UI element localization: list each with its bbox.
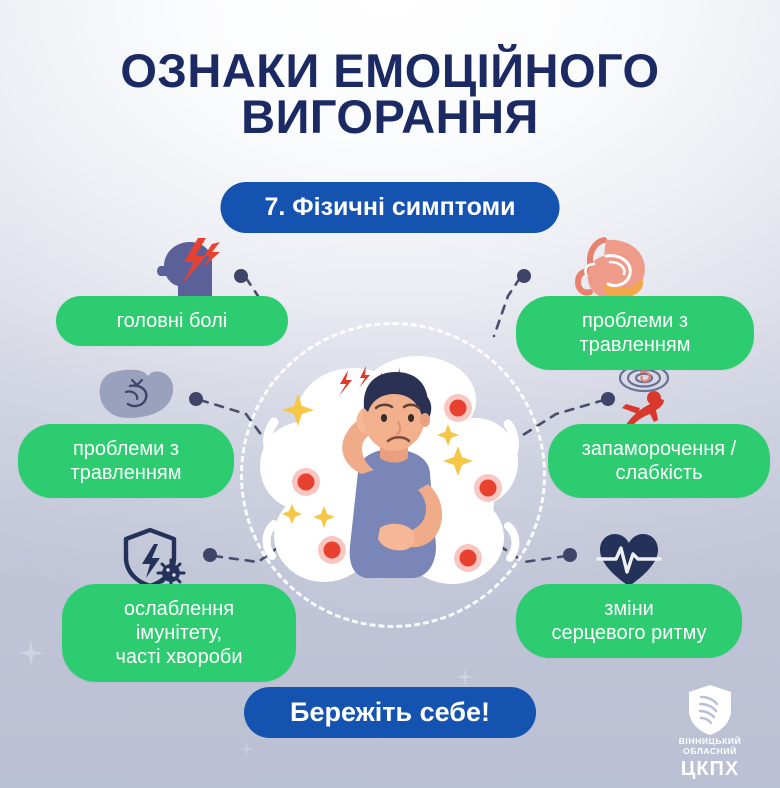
symptom-pill-heart-rhythm[interactable]: змінисерцевого ритму — [516, 584, 742, 658]
heart-pulse-icon — [596, 532, 662, 588]
symptom-pill-digestion-left[interactable]: проблеми зтравленням — [18, 424, 234, 498]
symptom-label: проблеми зтравленням — [70, 437, 181, 485]
symptom-label: змінисерцевого ритму — [551, 597, 706, 645]
stomach-grey-icon — [96, 368, 182, 422]
symptom-label: запаморочення /слабкість — [582, 437, 737, 485]
stressed-man-illustration — [262, 350, 520, 612]
symptom-pill-immunity[interactable]: ослабленняімунітету,часті хвороби — [62, 584, 296, 682]
poster-canvas: ОЗНАКИ ЕМОЦІЙНОГО ВИГОРАННЯ 7. Фізичні с… — [0, 0, 780, 788]
symptom-label: проблеми зтравленням — [579, 309, 690, 357]
logo-line-3: ЦКПХ — [654, 758, 766, 780]
symptom-label: головні болі — [117, 309, 227, 333]
virus-icon — [158, 560, 184, 586]
dashed-ring-decoration — [240, 322, 546, 628]
symptom-pill-digestion-right[interactable]: проблеми зтравленням — [516, 296, 754, 370]
symptom-pill-headaches[interactable]: головні болі — [56, 296, 288, 346]
logo-line-1: ВІННИЦЬКИЙ — [654, 736, 766, 747]
logo-line-2: ОБЛАСНИЙ — [654, 746, 766, 757]
symptom-pill-dizziness[interactable]: запаморочення /слабкість — [548, 424, 770, 498]
organization-logo: ВІННИЦЬКИЙ ОБЛАСНИЙ ЦКПХ — [654, 684, 766, 780]
shield-virus-icon — [120, 528, 190, 590]
head-lightning-icon — [150, 238, 230, 302]
symptom-label: ослабленняімунітету,часті хвороби — [115, 597, 242, 669]
shield-waves-icon — [686, 684, 734, 736]
call-to-action-banner: Бережіть себе! — [244, 687, 536, 738]
